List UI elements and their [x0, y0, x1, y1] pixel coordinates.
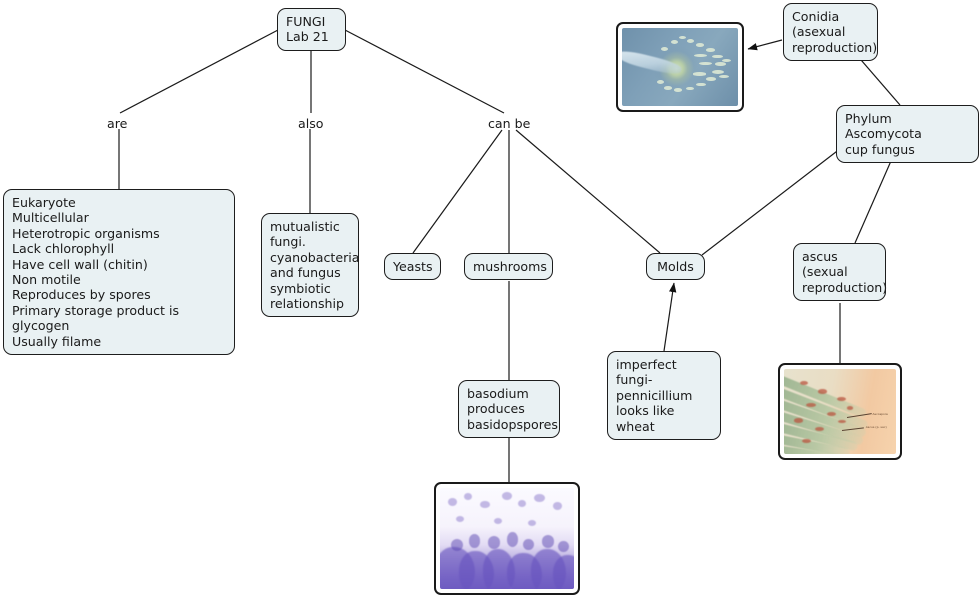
node-imperfect-fungi[interactable]: imperfect fungi- pennicillium looks like… [607, 351, 721, 440]
node-mushrooms[interactable]: mushrooms [464, 253, 553, 280]
node-phylum-ascomycota[interactable]: Phylum Ascomycota cup fungus [836, 105, 979, 163]
ascus-image-label-2: Ascus (p. sac) [866, 425, 887, 429]
conidiophore-image-content [622, 28, 738, 106]
edge-root-are [120, 30, 278, 113]
edge-canbe-molds [516, 130, 660, 253]
node-mutualistic-fungi[interactable]: mutualistic fungi. cyanobacteria and fun… [261, 213, 359, 317]
node-fungi-root[interactable]: FUNGI Lab 21 [277, 8, 346, 51]
ascus-micrograph[interactable]: Ascospore Ascus (p. sac) [778, 363, 902, 460]
edge-ascomycota-molds [702, 145, 845, 255]
ascus-image-label-1: Ascospore [872, 412, 887, 416]
concept-map-canvas: FUNGI Lab 21 are also can be Eukaryote M… [0, 0, 979, 598]
basidia-micrograph[interactable] [434, 482, 580, 595]
node-conidia[interactable]: Conidia (asexual reproduction) [783, 3, 878, 61]
edge-imperfect-molds [664, 283, 674, 351]
edge-canbe-yeasts [413, 130, 502, 253]
conidiophore-micrograph[interactable] [616, 22, 744, 112]
edge-label-can-be: can be [488, 117, 530, 131]
node-basidium[interactable]: basodium produces basidopspores [458, 380, 560, 438]
node-fungi-characteristics[interactable]: Eukaryote Multicellular Heterotropic org… [3, 189, 235, 355]
edge-label-are: are [107, 117, 127, 131]
node-molds[interactable]: Molds [646, 253, 705, 280]
node-yeasts[interactable]: Yeasts [384, 253, 441, 280]
edge-conidia-image [748, 40, 782, 49]
basidia-image-content [440, 488, 574, 589]
edge-root-canbe [345, 30, 504, 113]
ascus-image-content: Ascospore Ascus (p. sac) [784, 369, 896, 454]
node-ascus[interactable]: ascus (sexual reproduction) [793, 243, 886, 301]
edge-label-also: also [298, 117, 323, 131]
